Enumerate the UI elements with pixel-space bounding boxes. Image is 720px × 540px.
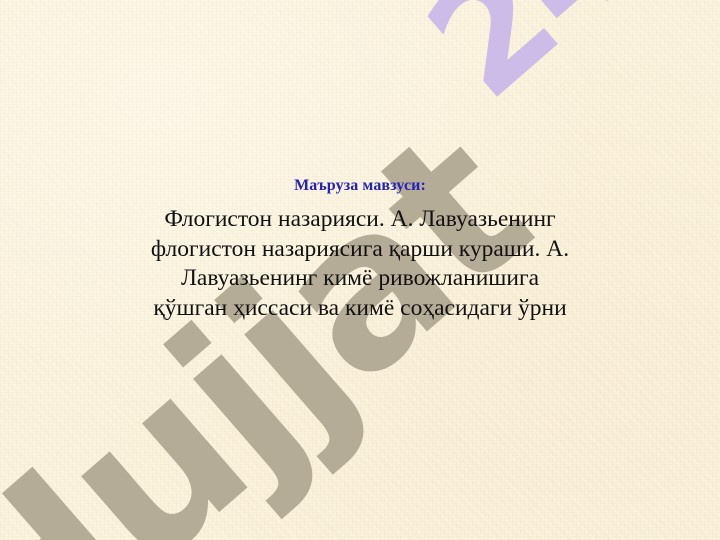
slide-content-block: Маъруза мавзуси: Флогистон назарияси. А.… [26,176,694,323]
lecture-topic-text: Флогистон назарияси. А. Лавуазьенинг фло… [26,205,694,323]
body-line: флогистон назариясига қарши кураши. А. [32,235,688,265]
body-line: Лавуазьенинг кимё ривожланишига [32,264,688,294]
watermark-number-24: 24 [404,0,657,123]
body-line: Флогистон назарияси. А. Лавуазьенинг [32,205,688,235]
lecture-topic-label: Маъруза мавзуси: [26,176,694,196]
presentation-slide: 24 Hujjat Маъруза мавзуси: Флогистон наз… [0,0,720,540]
body-line: қўшган ҳиссаси ва кимё соҳасидаги ўрни [32,294,688,324]
